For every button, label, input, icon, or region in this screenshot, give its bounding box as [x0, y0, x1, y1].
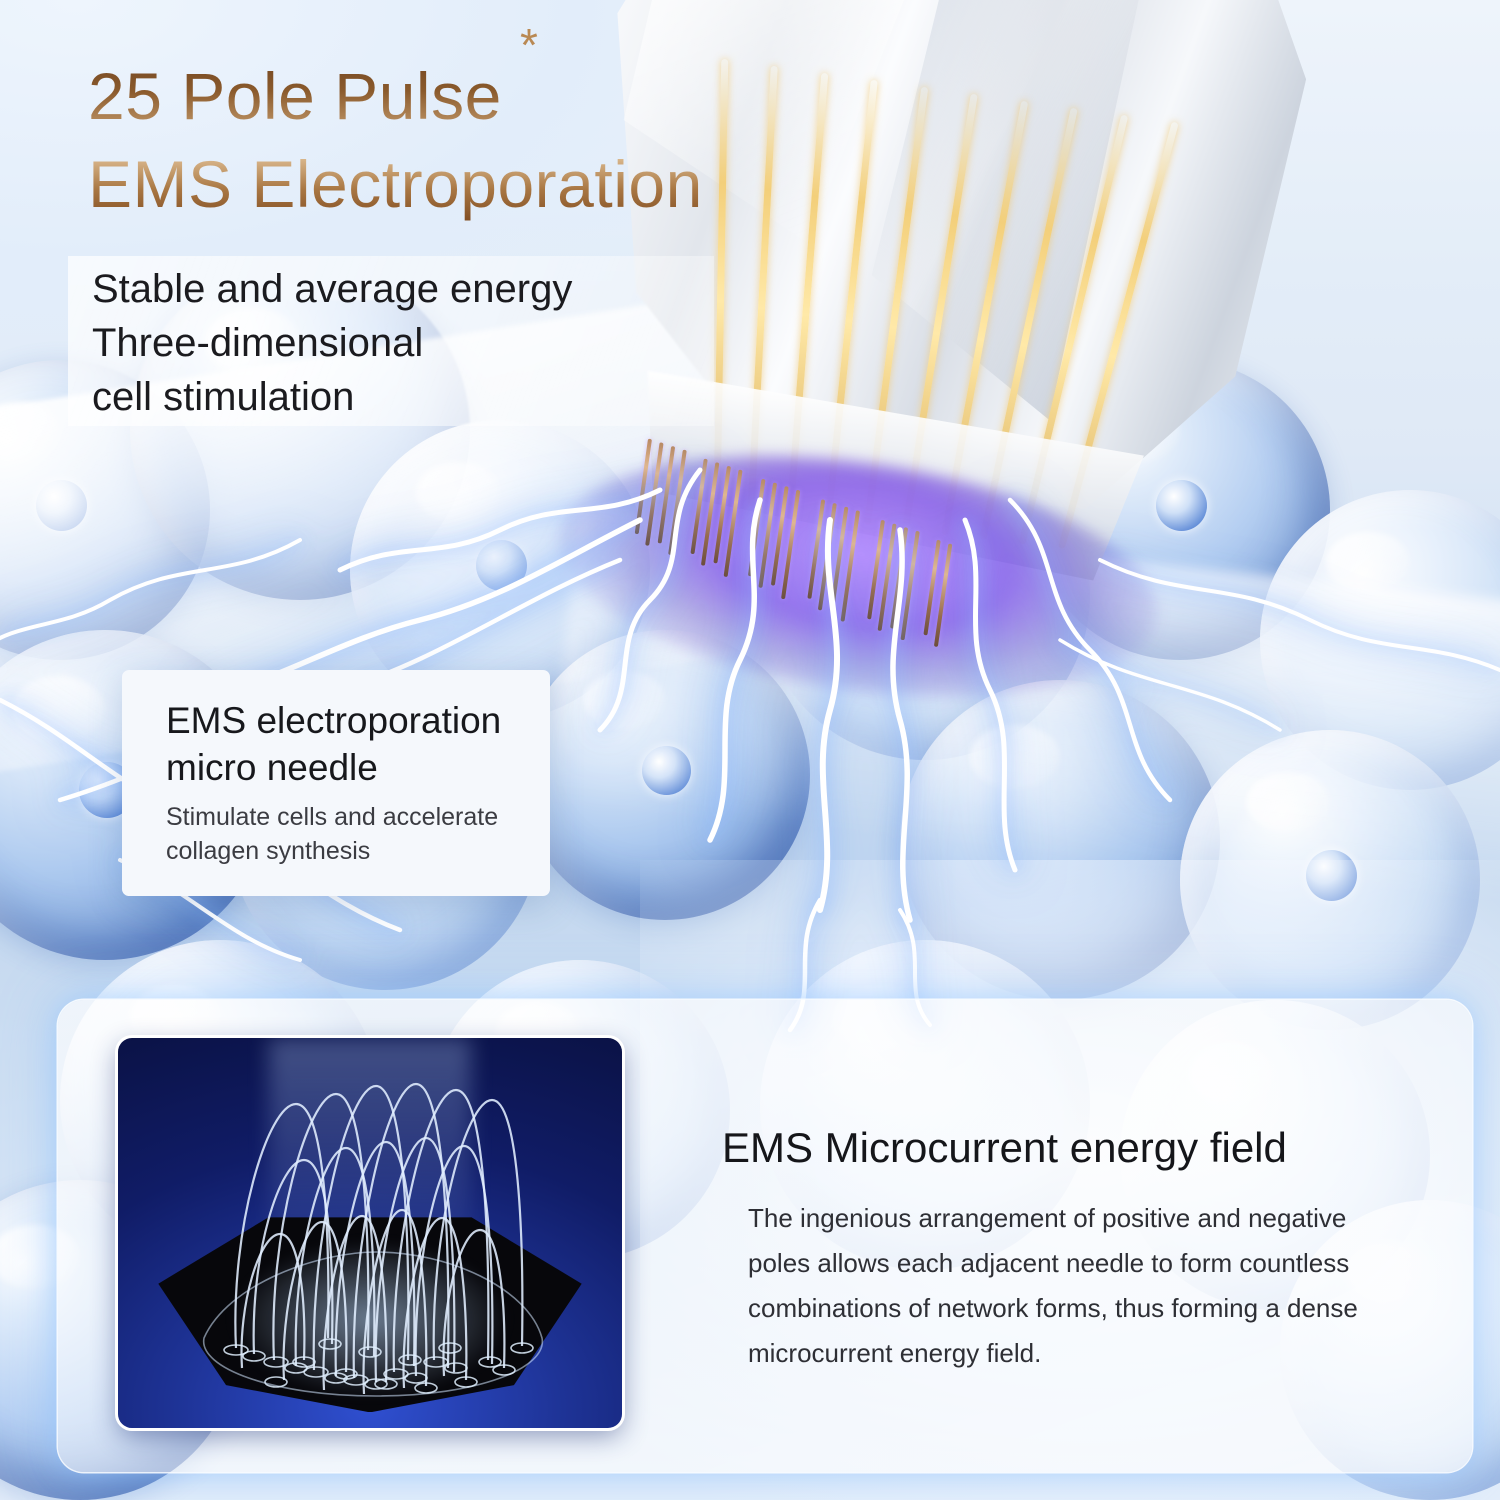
microcurrent-field-diagram [118, 1038, 622, 1428]
feature-card-heading: EMS electroporation micro needle [166, 697, 566, 791]
feature-card-body: Stimulate cells and accelerate collagen … [166, 800, 546, 868]
feature-card-body-line-2: collagen synthesis [166, 834, 546, 868]
diagram-arc-lines [118, 1038, 622, 1428]
bottom-body-line-4: microcurrent energy field. [748, 1331, 1448, 1376]
bottom-heading: EMS Microcurrent energy field [722, 1122, 1462, 1174]
feature-card-body-line-1: Stimulate cells and accelerate [166, 800, 546, 834]
feature-card-heading-line-1: EMS electroporation [166, 697, 566, 744]
subtitle-line-1: Stable and average energy [92, 262, 712, 316]
asterisk-icon: * [520, 22, 538, 68]
bottom-body-line-1: The ingenious arrangement of positive an… [748, 1196, 1448, 1241]
subtitle-line-3: cell stimulation [92, 370, 712, 424]
bottom-body: The ingenious arrangement of positive an… [748, 1196, 1448, 1376]
title-line-2: EMS Electroporation [88, 140, 1008, 228]
product-feature-graphic: 25 Pole Pulse EMS Electroporation * Stab… [0, 0, 1500, 1500]
bottom-body-line-2: poles allows each adjacent needle to for… [748, 1241, 1448, 1286]
feature-card-heading-line-2: micro needle [166, 744, 566, 791]
bottom-body-line-3: combinations of network forms, thus form… [748, 1286, 1448, 1331]
title-line-1: 25 Pole Pulse [88, 52, 1008, 140]
subtitle-line-2: Three-dimensional [92, 316, 712, 370]
subtitle-text: Stable and average energy Three-dimensio… [92, 262, 712, 424]
page-title: 25 Pole Pulse EMS Electroporation [88, 52, 1008, 228]
